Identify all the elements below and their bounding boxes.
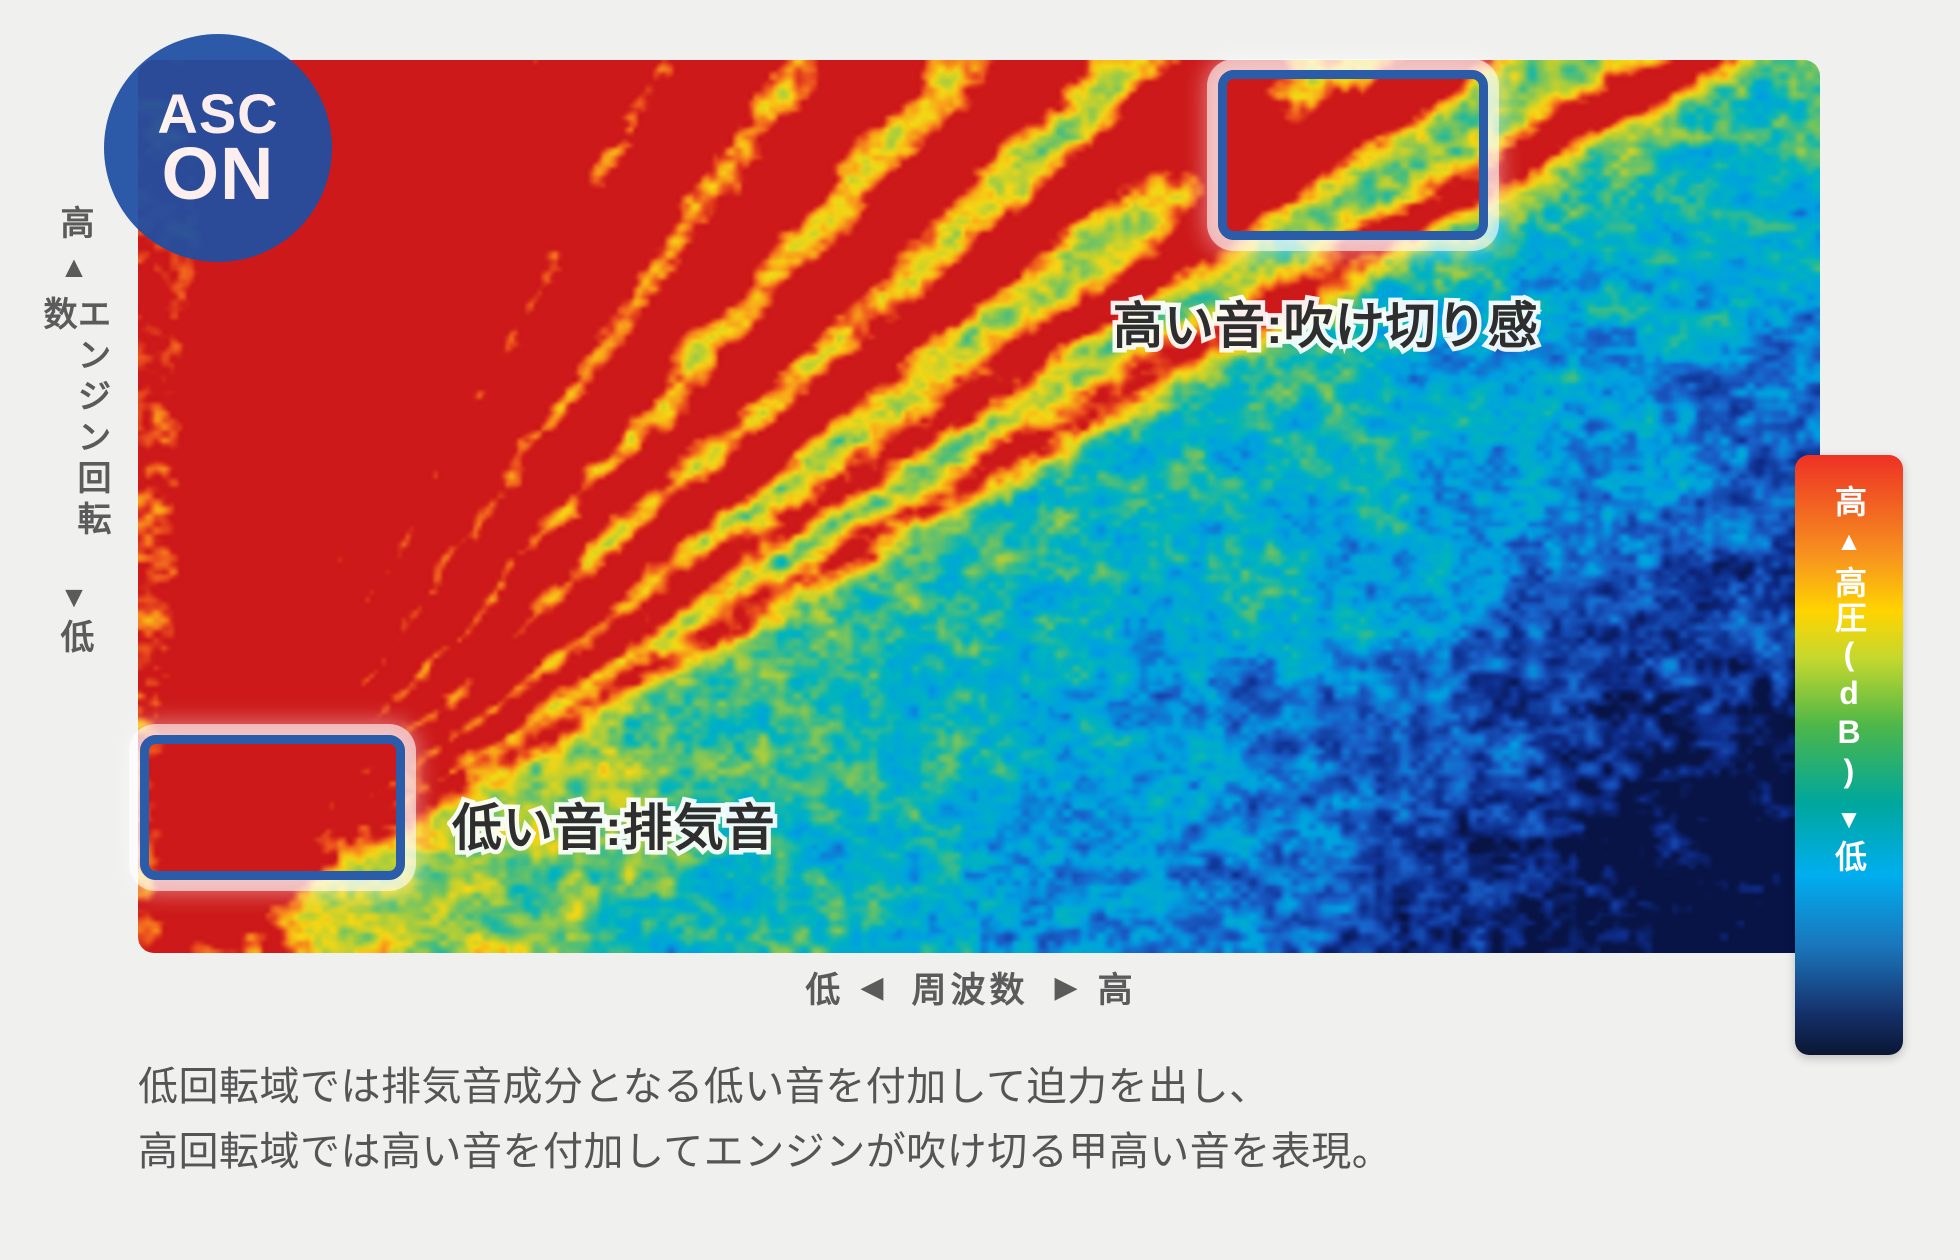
highlight-box-low-rpm: [140, 735, 405, 880]
x-axis-low-label: 低: [805, 962, 842, 1013]
x-axis-title: 周波数: [911, 962, 1028, 1013]
colorbar-legend: 高 ▲ 高圧(dB) ▼ 低: [1795, 455, 1903, 1055]
x-axis-high-label: 高: [1098, 962, 1135, 1013]
colorbar-low-label: 低: [1833, 840, 1865, 875]
x-axis-right-arrow-icon: ▶: [1055, 970, 1080, 1005]
spectrogram-figure: ASC ON 高い音:吹け切り感 低い音:排気音 高 ▲ エンジン回転数 ▼ 低…: [0, 0, 1960, 1260]
callout-low-tone: 低い音:排気音: [452, 788, 776, 860]
colorbar-high-label: 高: [1833, 485, 1865, 520]
colorbar-down-arrow-icon: ▼: [1836, 806, 1862, 832]
x-axis-label: 低 ◀ 周波数 ▶ 高: [620, 962, 1320, 1013]
figure-caption: 低回転域では排気音成分となる低い音を付加して迫力を出し、 高回転域では高い音を付…: [138, 1055, 1838, 1185]
highlight-box-high-rpm: [1218, 70, 1488, 240]
colorbar-title: 高圧(dB): [1833, 566, 1865, 792]
colorbar-up-arrow-icon: ▲: [1836, 528, 1862, 554]
y-axis-label: 高 ▲ エンジン回転数 ▼ 低: [38, 205, 110, 660]
asc-badge-line2: ON: [162, 140, 275, 209]
x-axis-left-arrow-icon: ◀: [860, 970, 885, 1005]
y-axis-high-label: 高: [57, 205, 91, 246]
y-axis-down-arrow-icon: ▼: [59, 583, 89, 613]
callout-high-tone: 高い音:吹け切り感: [1113, 286, 1539, 358]
y-axis-up-arrow-icon: ▲: [59, 253, 89, 283]
asc-on-badge: ASC ON: [104, 34, 332, 262]
caption-line-2: 高回転域では高い音を付加してエンジンが吹け切る甲高い音を表現。: [138, 1120, 1838, 1185]
y-axis-title: エンジン回転数: [40, 296, 108, 573]
y-axis-low-label: 低: [57, 619, 91, 660]
caption-line-1: 低回転域では排気音成分となる低い音を付加して迫力を出し、: [138, 1055, 1838, 1120]
